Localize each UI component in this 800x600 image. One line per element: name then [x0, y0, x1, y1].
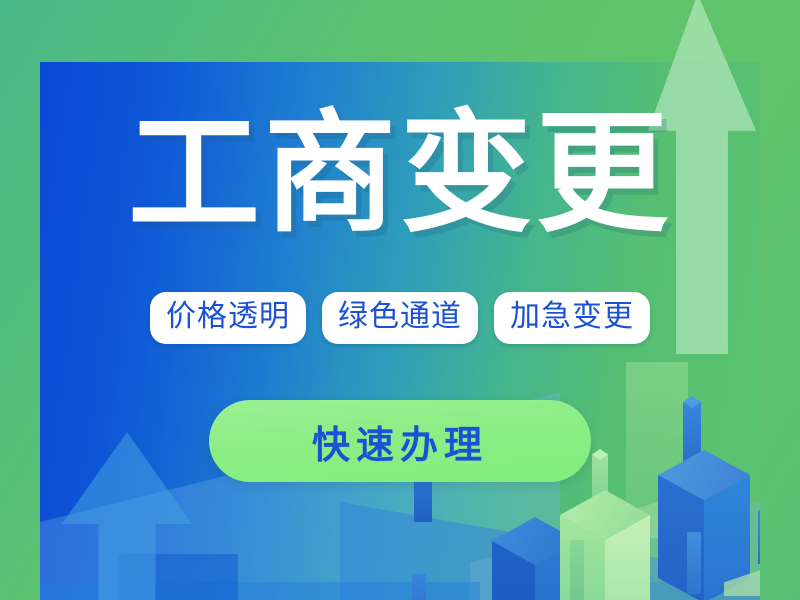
promo-poster: 工商变更 价格透明 绿色通道 加急变更 快速办理 — [0, 0, 800, 600]
feature-tag-green-channel[interactable]: 绿色通道 — [322, 292, 478, 344]
cta-container: 快速办理 — [0, 400, 800, 482]
feature-tag-price-transparent[interactable]: 价格透明 — [150, 292, 306, 344]
fast-processing-button[interactable]: 快速办理 — [209, 400, 591, 482]
page-title: 工商变更 — [0, 108, 800, 240]
poster-content: 工商变更 价格透明 绿色通道 加急变更 快速办理 — [0, 0, 800, 600]
feature-tag-list: 价格透明 绿色通道 加急变更 — [0, 292, 800, 344]
feature-tag-expedited-change[interactable]: 加急变更 — [494, 292, 650, 344]
